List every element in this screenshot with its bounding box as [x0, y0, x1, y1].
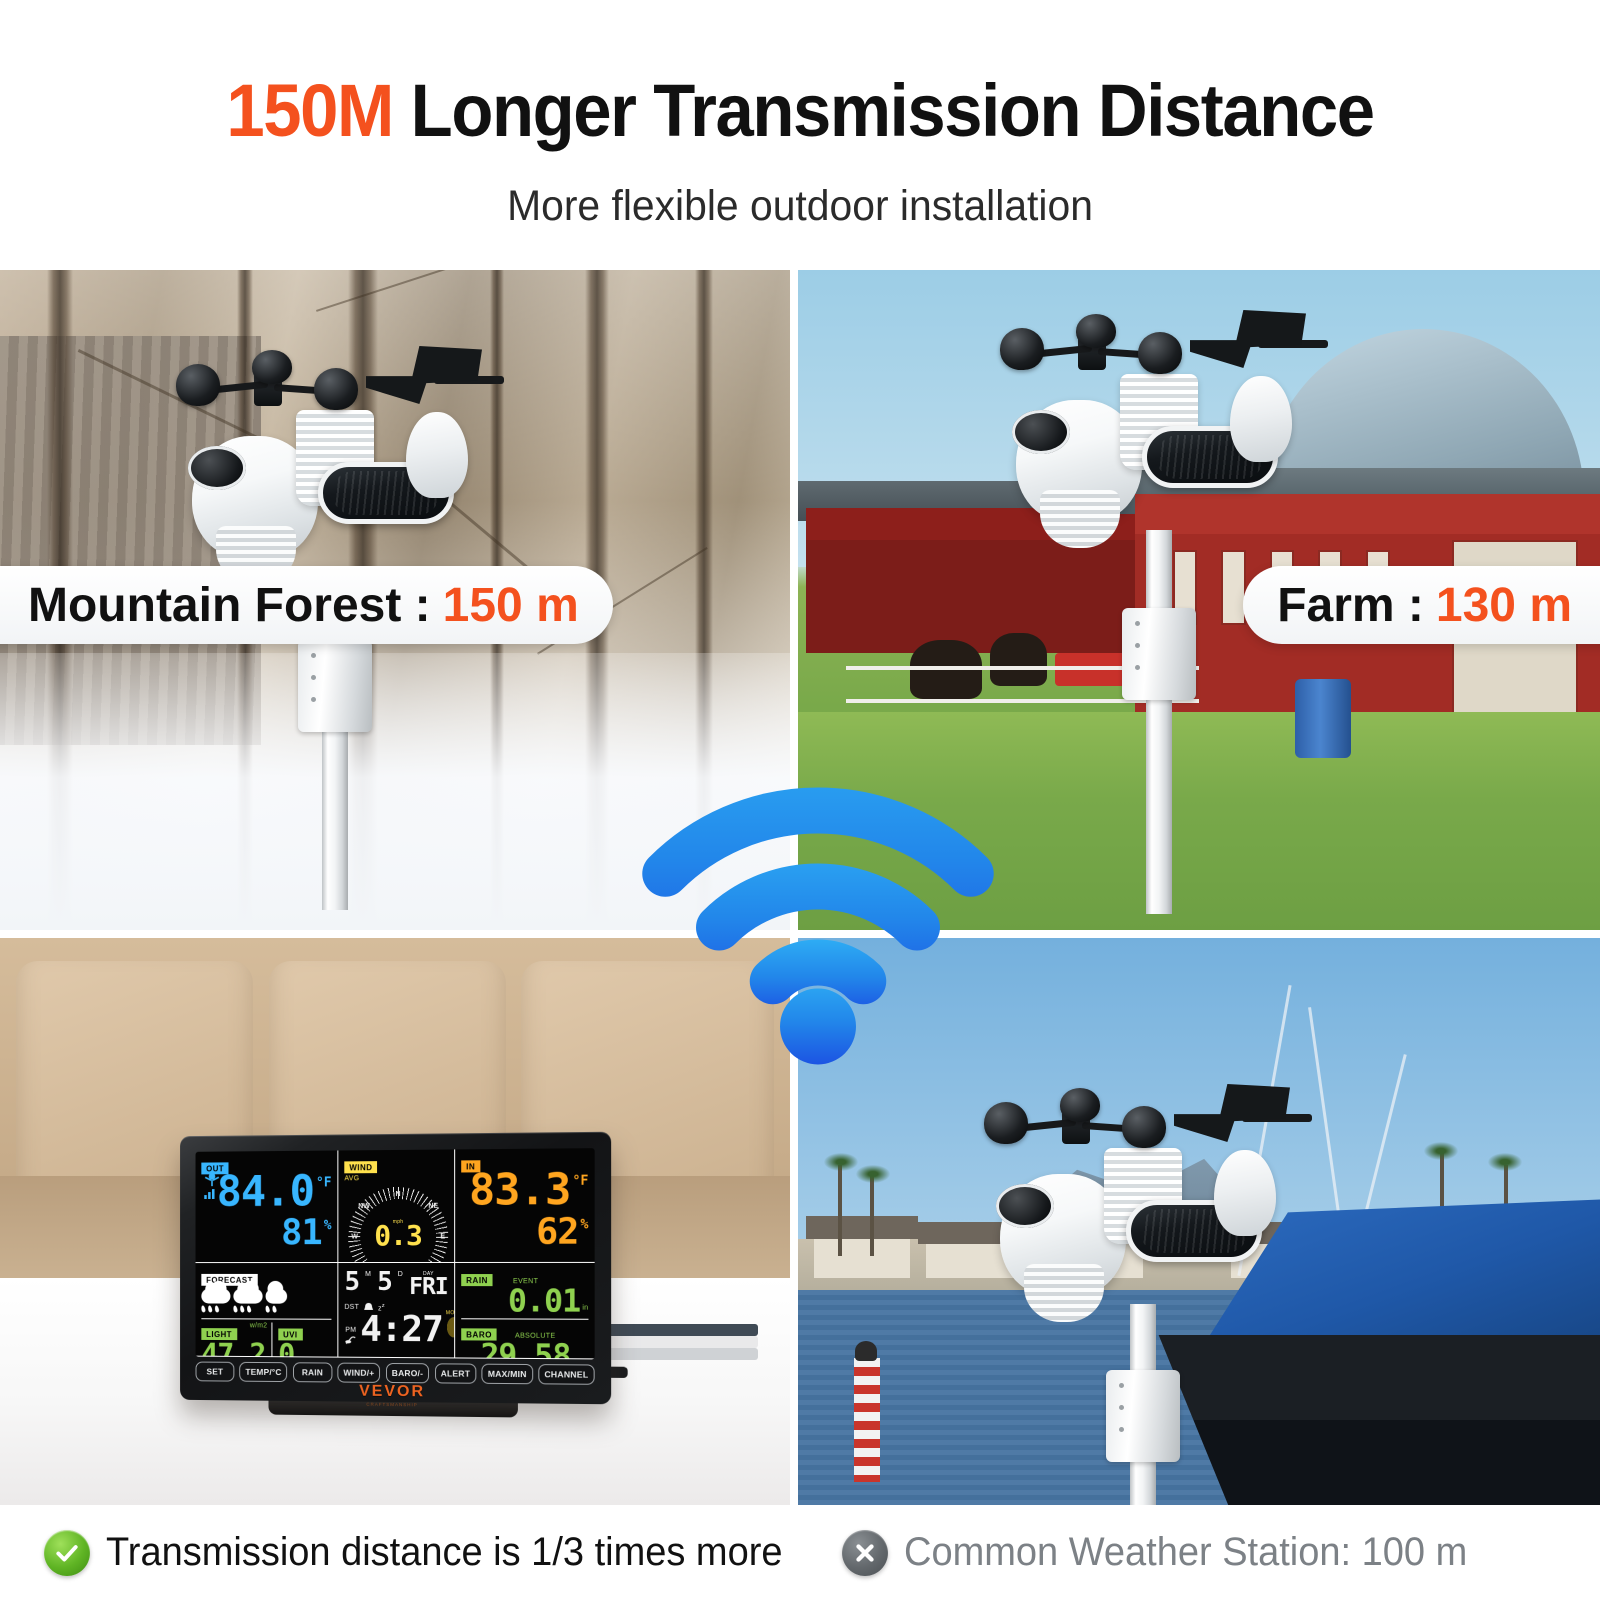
lcd-panel-outdoor: OUT 84.0 °F [196, 1150, 339, 1262]
weather-station-console: OUT 84.0 °F [180, 1132, 611, 1405]
out-humidity-unit: % [324, 1218, 332, 1233]
wind-tag: WIND [344, 1161, 377, 1173]
rain-cloud-icon [266, 1288, 288, 1303]
uvi-value: 0 [278, 1341, 331, 1358]
compass-dir-n: N [396, 1191, 401, 1198]
light-value: 47.2 [201, 1340, 267, 1357]
dst-indicator: DST [344, 1304, 359, 1311]
radio-signal-icon [344, 1334, 357, 1346]
out-temp-unit: °F [316, 1175, 331, 1190]
button-wind[interactable]: WIND/+ [338, 1363, 381, 1383]
banner-positive-text: Transmission distance is 1/3 times more [106, 1530, 782, 1575]
lcd-screen: OUT 84.0 °F [196, 1148, 595, 1359]
lcd-panel-rain-baro: RAIN EVENT 0.01 in BARO ABSOLUTE 29.58 i… [455, 1262, 595, 1359]
headline-rest: Longer Transmission Distance [411, 69, 1374, 152]
button-baro[interactable]: BARO/- [386, 1363, 429, 1383]
date-month: 5 [345, 1271, 360, 1295]
anemometer-cup [252, 350, 292, 384]
page-title: 150M Longer Transmission Distance [56, 68, 1544, 153]
lcd-panel-wind: WIND AVG N NE E SE S SW W NW mph [338, 1149, 455, 1262]
forecast-icons [201, 1288, 331, 1312]
lcd-panel-datetime: 5 M 5 D DAY FRI DST zz [338, 1263, 455, 1359]
wind-compass: N NE E SE S SW W NW mph 0.3 [344, 1183, 452, 1263]
button-alert[interactable]: ALERT [435, 1363, 477, 1383]
weather-sensor-fishery [978, 1088, 1308, 1505]
label-distance: 130 m [1436, 578, 1572, 633]
wind-value: 0.3 [344, 1223, 452, 1249]
label-text: Farm : [1277, 578, 1424, 633]
compass-dir-nw: NW [358, 1203, 370, 1210]
lcd-panel-forecast: FORECAST [196, 1263, 339, 1358]
in-temperature: 83.3 [469, 1171, 570, 1212]
label-text: Mountain Forest : [28, 578, 431, 633]
banner-negative-text: Common Weather Station: 100 m [904, 1530, 1467, 1575]
clock-time: 4:27 [360, 1313, 443, 1347]
wind-vane [366, 346, 482, 404]
wifi-signal-icon [628, 712, 1008, 1092]
page-subtitle: More flexible outdoor installation [40, 182, 1560, 231]
wind-mode: AVG [344, 1175, 448, 1183]
light-unit: w/m2 [250, 1322, 268, 1329]
rain-cloud-icon [201, 1288, 230, 1303]
button-maxmin[interactable]: MAX/MIN [482, 1364, 533, 1385]
banner-positive: Transmission distance is 1/3 times more [0, 1505, 798, 1600]
wind-vane [1174, 1084, 1290, 1142]
headline-highlight: 150M [226, 69, 393, 152]
rain-tag: RAIN [461, 1274, 493, 1286]
anemometer-cup [984, 1102, 1028, 1144]
comparison-banner: Transmission distance is 1/3 times more … [0, 1505, 1600, 1600]
anemometer-cup [1076, 314, 1116, 348]
button-channel[interactable]: CHANNEL [538, 1364, 594, 1385]
button-temp[interactable]: TEMP/°C [240, 1362, 288, 1382]
anemometer-cup [1000, 328, 1044, 370]
in-humidity-unit: % [580, 1217, 588, 1232]
lighthouse [854, 1358, 880, 1483]
infographic-page: 150M Longer Transmission Distance More f… [0, 0, 1600, 1600]
baro-value: 29.58 [480, 1342, 570, 1360]
compass-dir-ne: NE [428, 1203, 438, 1210]
outdoor-sensor-icon [201, 1171, 222, 1205]
anemometer-cup [176, 364, 220, 406]
meridiem: PM [345, 1327, 356, 1334]
rain-value: 0.01 [508, 1287, 580, 1316]
anemometer-cup [314, 368, 358, 410]
date-weekday: FRI [409, 1277, 448, 1298]
in-temp-unit: °F [572, 1173, 588, 1188]
cross-icon [842, 1530, 888, 1576]
moon-phase-icon [446, 1316, 455, 1338]
console-shell: OUT 84.0 °F [180, 1132, 611, 1405]
button-set[interactable]: SET [196, 1362, 235, 1382]
anemometer-cup [1138, 332, 1182, 374]
label-mountain-forest: Mountain Forest : 150 m [0, 566, 613, 644]
rain-unit: in [582, 1305, 588, 1312]
date-day-label: D [398, 1271, 403, 1278]
wind-vane [1190, 310, 1306, 368]
banner-negative: Common Weather Station: 100 m [798, 1505, 1600, 1600]
anemometer-cup [1060, 1088, 1100, 1122]
anemometer-cup [1122, 1106, 1166, 1148]
button-rain[interactable]: RAIN [293, 1362, 332, 1382]
date-month-label: M [365, 1271, 371, 1278]
label-distance: 150 m [443, 578, 579, 633]
header: 150M Longer Transmission Distance More f… [0, 0, 1600, 270]
in-humidity: 62 [536, 1215, 578, 1249]
check-icon [44, 1530, 90, 1576]
label-farm: Farm : 130 m [1243, 566, 1600, 644]
date-day: 5 [377, 1271, 392, 1295]
rain-cloud-icon [233, 1288, 262, 1303]
lcd-panel-indoor: IN 83.3 °F 62 % [455, 1148, 595, 1262]
out-humidity: 81 [281, 1216, 322, 1249]
out-temperature: 84.0 [217, 1173, 314, 1213]
